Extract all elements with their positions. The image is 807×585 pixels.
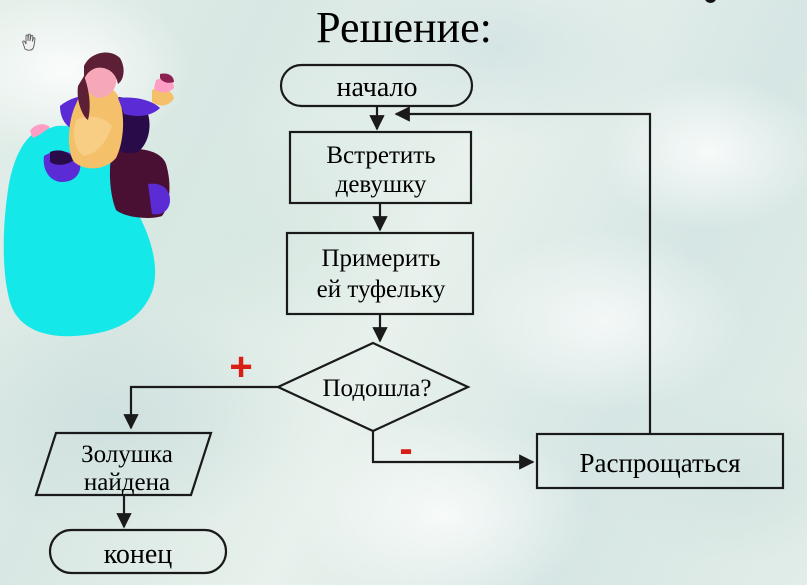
node-goodbye-label: Распрощаться [579,448,740,478]
node-found-label-line2: найдена [84,469,170,496]
node-start-label: начало [336,72,417,103]
node-decision-label: Подошла? [323,375,432,402]
edge-decide-yes-to-found [131,387,278,428]
slide-canvas: Решение: [0,0,807,585]
node-meet-label-line2: девушку [336,171,427,198]
node-end-label: конец [104,539,173,570]
branch-label-yes: + [229,345,252,389]
node-tryon-label-line2: ей туфельку [317,276,446,303]
branch-label-no: - [399,427,412,471]
node-meet-label-line1: Встретить [326,142,435,169]
node-found-label-line1: Золушка [81,441,173,468]
edge-decide-no-to-goodbye [373,431,533,462]
node-tryon-label-line1: Примерить [321,245,440,272]
flowchart-diagram: начало Встретить девушку Примерить ей ту… [0,0,807,585]
